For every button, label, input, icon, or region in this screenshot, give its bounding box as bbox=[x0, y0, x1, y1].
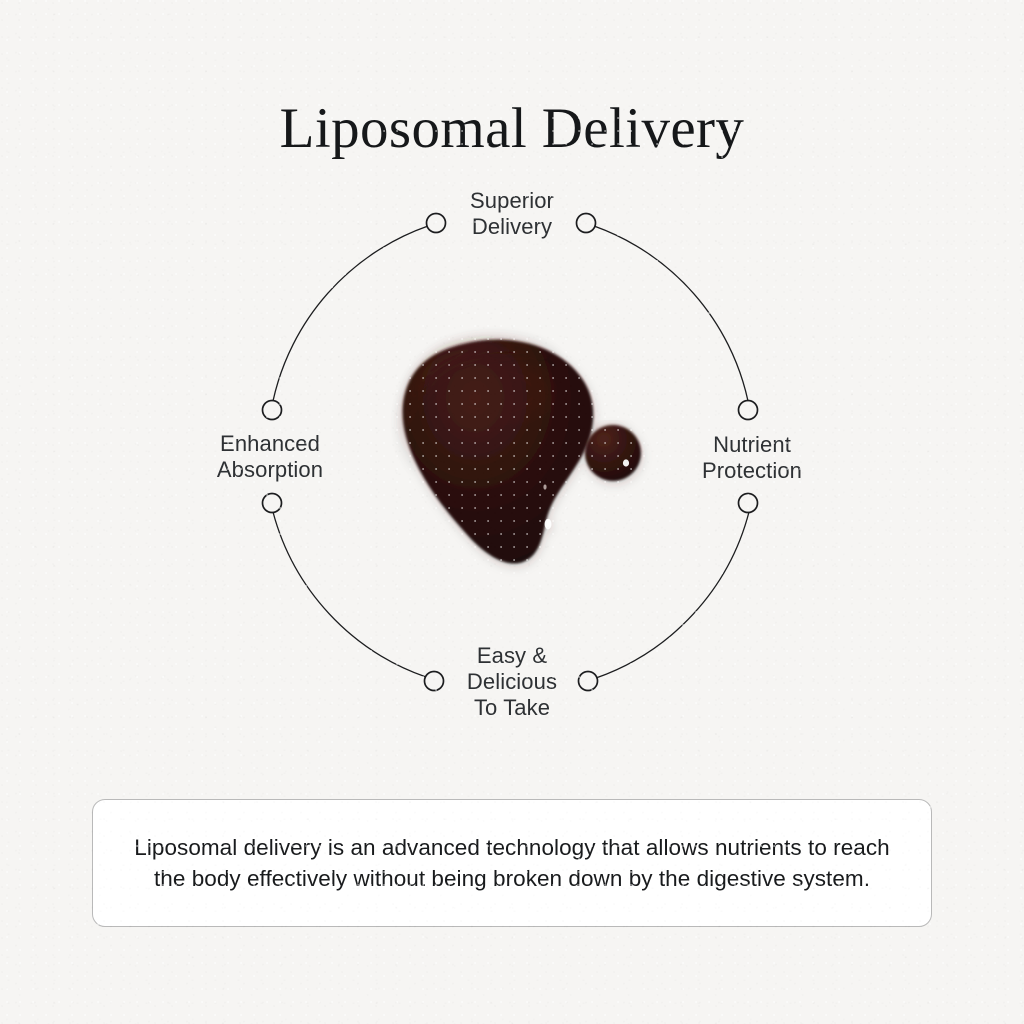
caption-text: Liposomal delivery is an advanced techno… bbox=[126, 832, 898, 894]
node-label-easy-delicious: Easy & Delicious To Take bbox=[412, 643, 612, 721]
droplet-inner-sheen bbox=[430, 358, 554, 426]
node-marker-enhanced-absorption-bottom[interactable] bbox=[263, 494, 282, 513]
node-marker-nutrient-protection-bottom[interactable] bbox=[739, 494, 758, 513]
satellite-droplet-shape bbox=[585, 425, 641, 481]
liquid-droplet-artwork bbox=[403, 340, 641, 564]
page-title: Liposomal Delivery bbox=[0, 96, 1024, 161]
node-label-enhanced-absorption: Enhanced Absorption bbox=[168, 431, 372, 483]
node-marker-nutrient-protection-top[interactable] bbox=[739, 401, 758, 420]
arc-bottom-left bbox=[273, 512, 426, 677]
node-label-superior-delivery: Superior Delivery bbox=[412, 188, 612, 240]
satellite-droplet-specular bbox=[623, 459, 629, 466]
arc-bottom-right bbox=[596, 512, 749, 678]
caption-box: Liposomal delivery is an advanced techno… bbox=[92, 799, 932, 927]
arc-top-right bbox=[594, 226, 748, 401]
node-label-nutrient-protection: Nutrient Protection bbox=[652, 432, 852, 484]
node-marker-enhanced-absorption-top[interactable] bbox=[263, 401, 282, 420]
droplet-specular-highlight-small bbox=[543, 484, 546, 489]
droplet-specular-highlight bbox=[545, 519, 552, 529]
arc-top-left bbox=[273, 226, 428, 401]
